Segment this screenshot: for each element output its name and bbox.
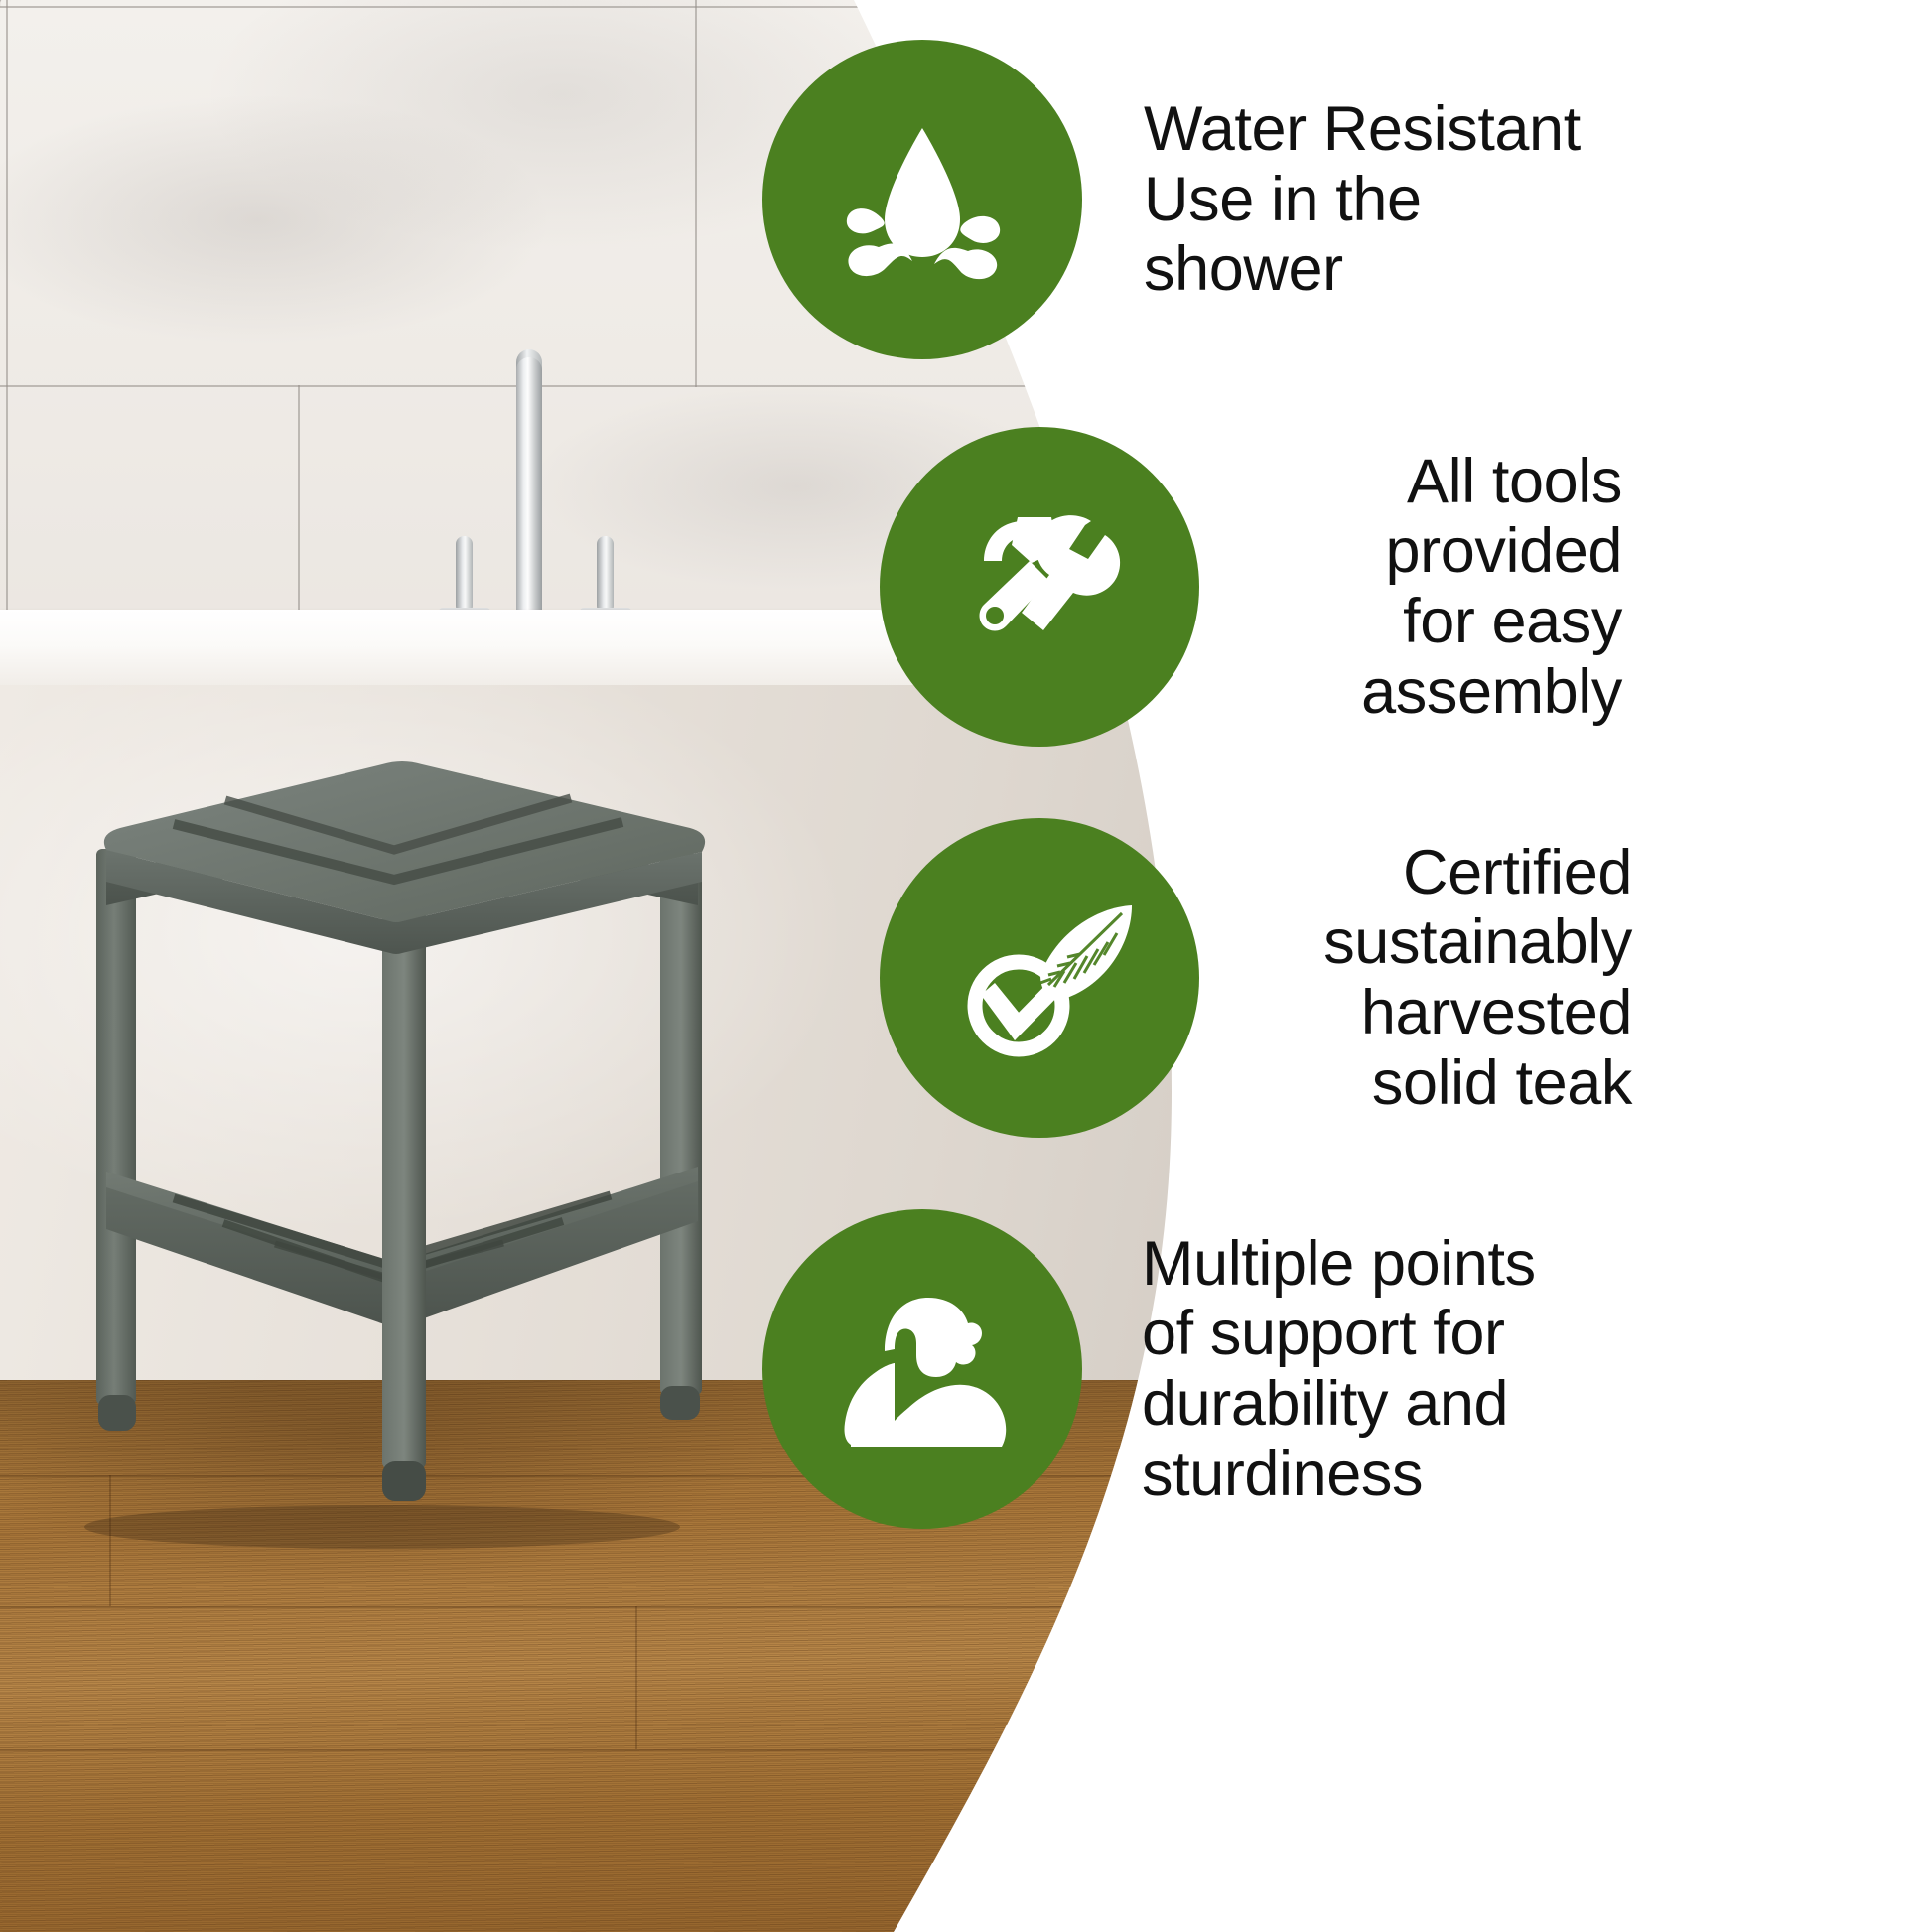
feature-label: All tools provided for easy assembly <box>1255 447 1622 727</box>
water-drop-splash-icon <box>823 100 1022 299</box>
feature-sustainable-teak[interactable]: Certified sustainably harvested solid te… <box>880 818 1632 1138</box>
feature-label: Water Resistant Use in the shower <box>1144 94 1581 305</box>
faucet-handle-left <box>456 536 473 614</box>
feature-water-resistant[interactable]: Water Resistant Use in the shower <box>762 40 1581 359</box>
tile-grout-line <box>0 6 1172 8</box>
feature-tools-provided[interactable]: All tools provided for easy assembly <box>880 427 1622 747</box>
feature-icon-badge <box>762 1209 1082 1529</box>
feature-icon-badge <box>880 427 1199 747</box>
flexed-bicep-icon <box>825 1272 1020 1466</box>
faucet-spout-icon <box>516 357 542 625</box>
feature-icon-badge <box>762 40 1082 359</box>
feature-icon-badge <box>880 818 1199 1138</box>
tile-grout-line <box>695 0 697 387</box>
leaf-check-icon <box>937 876 1142 1080</box>
faucet-handle-right <box>597 536 614 614</box>
teak-corner-bench <box>55 755 750 1549</box>
tile-grout-line <box>0 385 1172 387</box>
feature-label: Certified sustainably harvested solid te… <box>1255 838 1632 1118</box>
infographic-canvas: Water Resistant Use in the shower <box>0 0 1932 1932</box>
hammer-wrench-icon <box>940 487 1139 686</box>
feature-multiple-support-points[interactable]: Multiple points of support for durabilit… <box>762 1209 1536 1529</box>
feature-label: Multiple points of support for durabilit… <box>1142 1229 1536 1509</box>
